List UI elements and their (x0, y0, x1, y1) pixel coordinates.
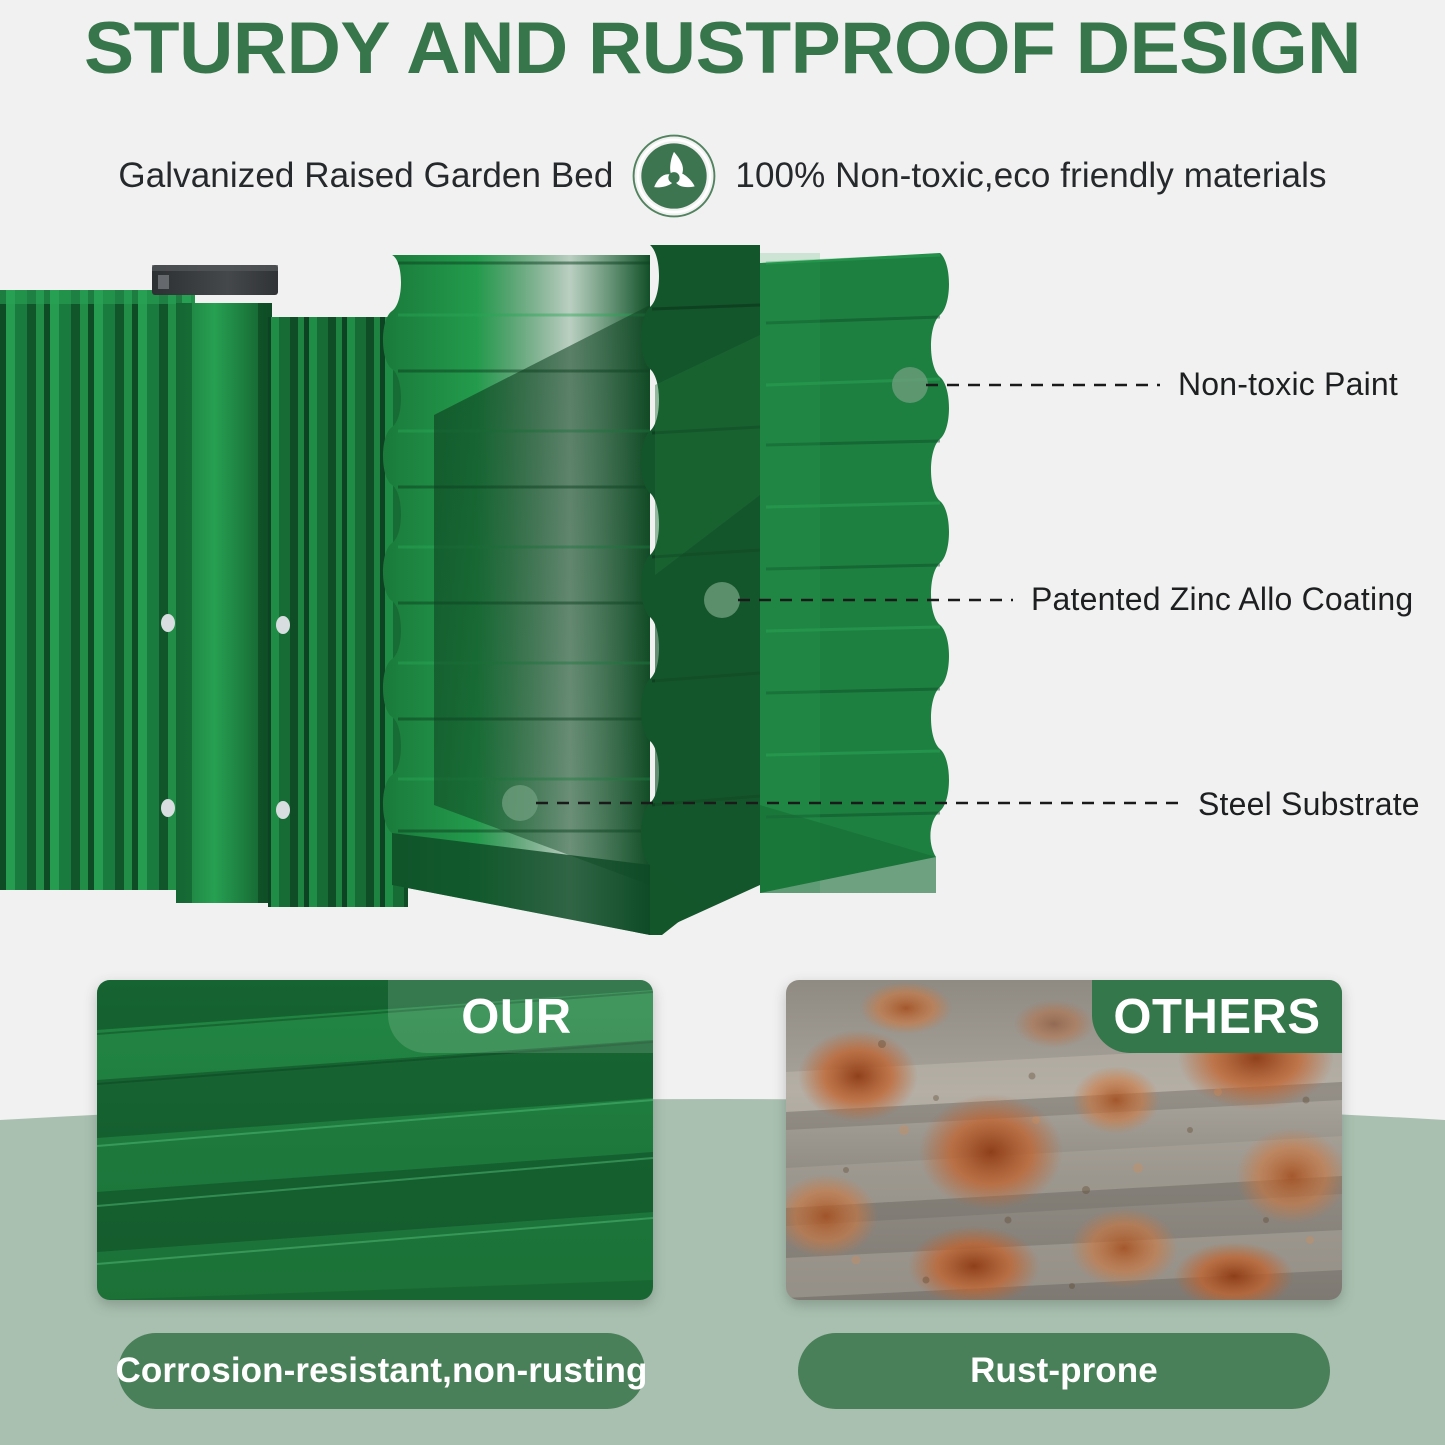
caption-pill-others: Rust-prone (798, 1333, 1330, 1409)
subtitle-left: Galvanized Raised Garden Bed (118, 156, 613, 196)
infographic-canvas: STURDY AND RUSTPROOF DESIGN Galvanized R… (0, 0, 1445, 1445)
right-corrugated-panel (268, 317, 408, 935)
badge-our: OUR (388, 980, 653, 1053)
badge-others: OTHERS (1092, 980, 1342, 1053)
callout-dot-marker (704, 582, 740, 618)
subtitle-row: Galvanized Raised Garden Bed 100% Non-to… (0, 133, 1445, 219)
page-title: STURDY AND RUSTPROOF DESIGN (0, 8, 1445, 90)
callout-label-non-toxic-paint: Non-toxic Paint (1178, 366, 1398, 403)
wavy-sheet-right (760, 253, 949, 893)
comparison-card-our: OUR (97, 980, 653, 1300)
callout-label-steel-substrate: Steel Substrate (1198, 786, 1420, 823)
center-fold-panel (641, 245, 760, 935)
callout-dot-marker (502, 785, 538, 821)
comparison-card-others: OTHERS (786, 980, 1342, 1300)
eco-recycle-leaves-icon (631, 133, 717, 219)
callout-dot-marker (892, 367, 928, 403)
caption-pill-our: Corrosion-resistant,non-rusting (118, 1333, 645, 1409)
wavy-sheet-left (383, 255, 650, 935)
left-corrugated-panel (0, 290, 195, 935)
callout-label-zinc-coating: Patented Zinc Allo Coating (1031, 581, 1413, 618)
subtitle-right: 100% Non-toxic,eco friendly materials (735, 156, 1326, 196)
